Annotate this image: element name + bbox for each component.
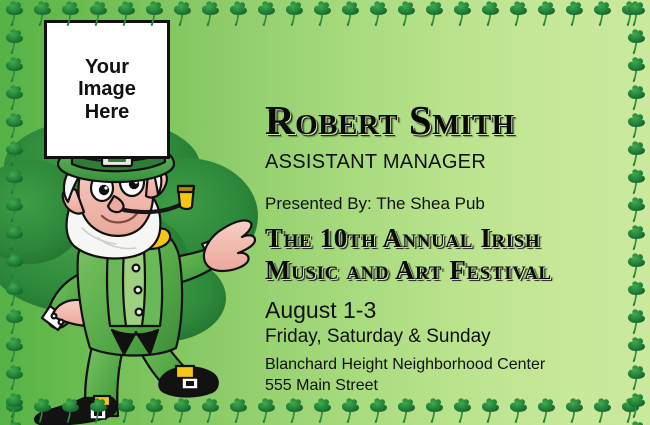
shamrock-icon [28,397,56,425]
shamrock-icon [196,397,224,425]
shamrock-icon [0,224,28,252]
shamrock-icon [0,28,28,56]
shamrock-icon [336,397,364,425]
shamrock-icon [0,392,28,420]
shamrock-icon [448,397,476,425]
shamrock-icon [504,397,532,425]
attendee-role: ASSISTANT MANAGER [265,151,633,174]
shamrock-icon [336,0,364,28]
shamrock-icon [0,56,28,84]
event-title-line-2: Music and Art Festival [265,255,633,285]
shamrock-icon [112,397,140,425]
shamrock-icon [622,420,650,425]
border-right [622,0,650,425]
shamrock-icon [252,397,280,425]
border-bottom [0,397,650,425]
shamrock-icon [0,0,28,28]
shamrock-icon [476,397,504,425]
shamrock-icon [622,224,650,252]
shamrock-icon [622,112,650,140]
shamrock-icon [0,336,28,364]
shamrock-icon [392,397,420,425]
shamrock-icon [280,0,308,28]
shamrock-icon [622,84,650,112]
ticket-text-block: Robert Smith ASSISTANT MANAGER Presented… [263,100,633,395]
presented-by: Presented By: The Shea Pub [265,194,633,214]
shamrock-icon [0,168,28,196]
shamrock-icon [560,0,588,28]
event-title-line-1: The 10th Annual Irish [265,223,633,253]
shamrock-icon [308,0,336,28]
event-venue: Blanchard Height Neighborhood Center [265,355,633,374]
shamrock-icon [252,0,280,28]
shamrock-icon [140,0,168,28]
shamrock-icon [364,397,392,425]
shamrock-icon [224,397,252,425]
attendee-name: Robert Smith [265,100,633,141]
shamrock-icon [532,397,560,425]
shamrock-icon [476,0,504,28]
event-days: Friday, Saturday & Sunday [265,326,633,348]
shamrock-icon [392,0,420,28]
shamrock-icon [112,0,140,28]
shamrock-icon [0,308,28,336]
shamrock-icon [420,397,448,425]
shamrock-icon [448,0,476,28]
shamrock-icon [622,364,650,392]
shamrock-icon [622,280,650,308]
shamrock-icon [168,397,196,425]
shamrock-icon [622,140,650,168]
shamrock-icon [622,28,650,56]
shamrock-icon [588,397,616,425]
shamrock-icon [0,196,28,224]
shamrock-icon [0,280,28,308]
shamrock-icon [622,56,650,84]
shamrock-icon [588,0,616,28]
shamrock-icon [364,0,392,28]
shamrock-icon [622,168,650,196]
shamrock-icon [0,84,28,112]
border-top [0,0,650,28]
shamrock-icon [420,0,448,28]
shamrock-icon [0,364,28,392]
shamrock-icon [168,0,196,28]
leprechaun-illustration [6,140,256,425]
shamrock-icon [0,420,28,425]
shamrock-icon [84,0,112,28]
image-placeholder[interactable]: Your Image Here [44,20,170,159]
shamrock-icon [56,397,84,425]
shamrock-icon [622,392,650,420]
shamrock-icon [224,0,252,28]
image-placeholder-line-1: Your [85,56,129,78]
shamrock-icon [622,252,650,280]
image-placeholder-line-2: Image [78,78,136,100]
border-left [0,0,28,425]
event-ticket: Your Image Here Robert Smith ASSISTANT M… [0,0,650,425]
shamrock-icon [28,0,56,28]
shamrock-icon [140,397,168,425]
shamrock-icon [622,336,650,364]
event-date: August 1-3 [265,297,633,323]
shamrock-icon [622,308,650,336]
shamrock-icon [84,397,112,425]
shamrock-icon [56,0,84,28]
shamrock-icon [504,0,532,28]
shamrock-icon [0,140,28,168]
shamrock-icon [532,0,560,28]
shamrock-icon [622,196,650,224]
image-placeholder-line-3: Here [85,101,129,123]
shamrock-icon [308,397,336,425]
shamrock-icon [0,252,28,280]
shamrock-icon [196,0,224,28]
shamrock-icon [280,397,308,425]
shamrock-icon [560,397,588,425]
event-street: 555 Main Street [265,376,633,395]
shamrock-icon [0,112,28,140]
shamrock-icon [622,0,650,28]
